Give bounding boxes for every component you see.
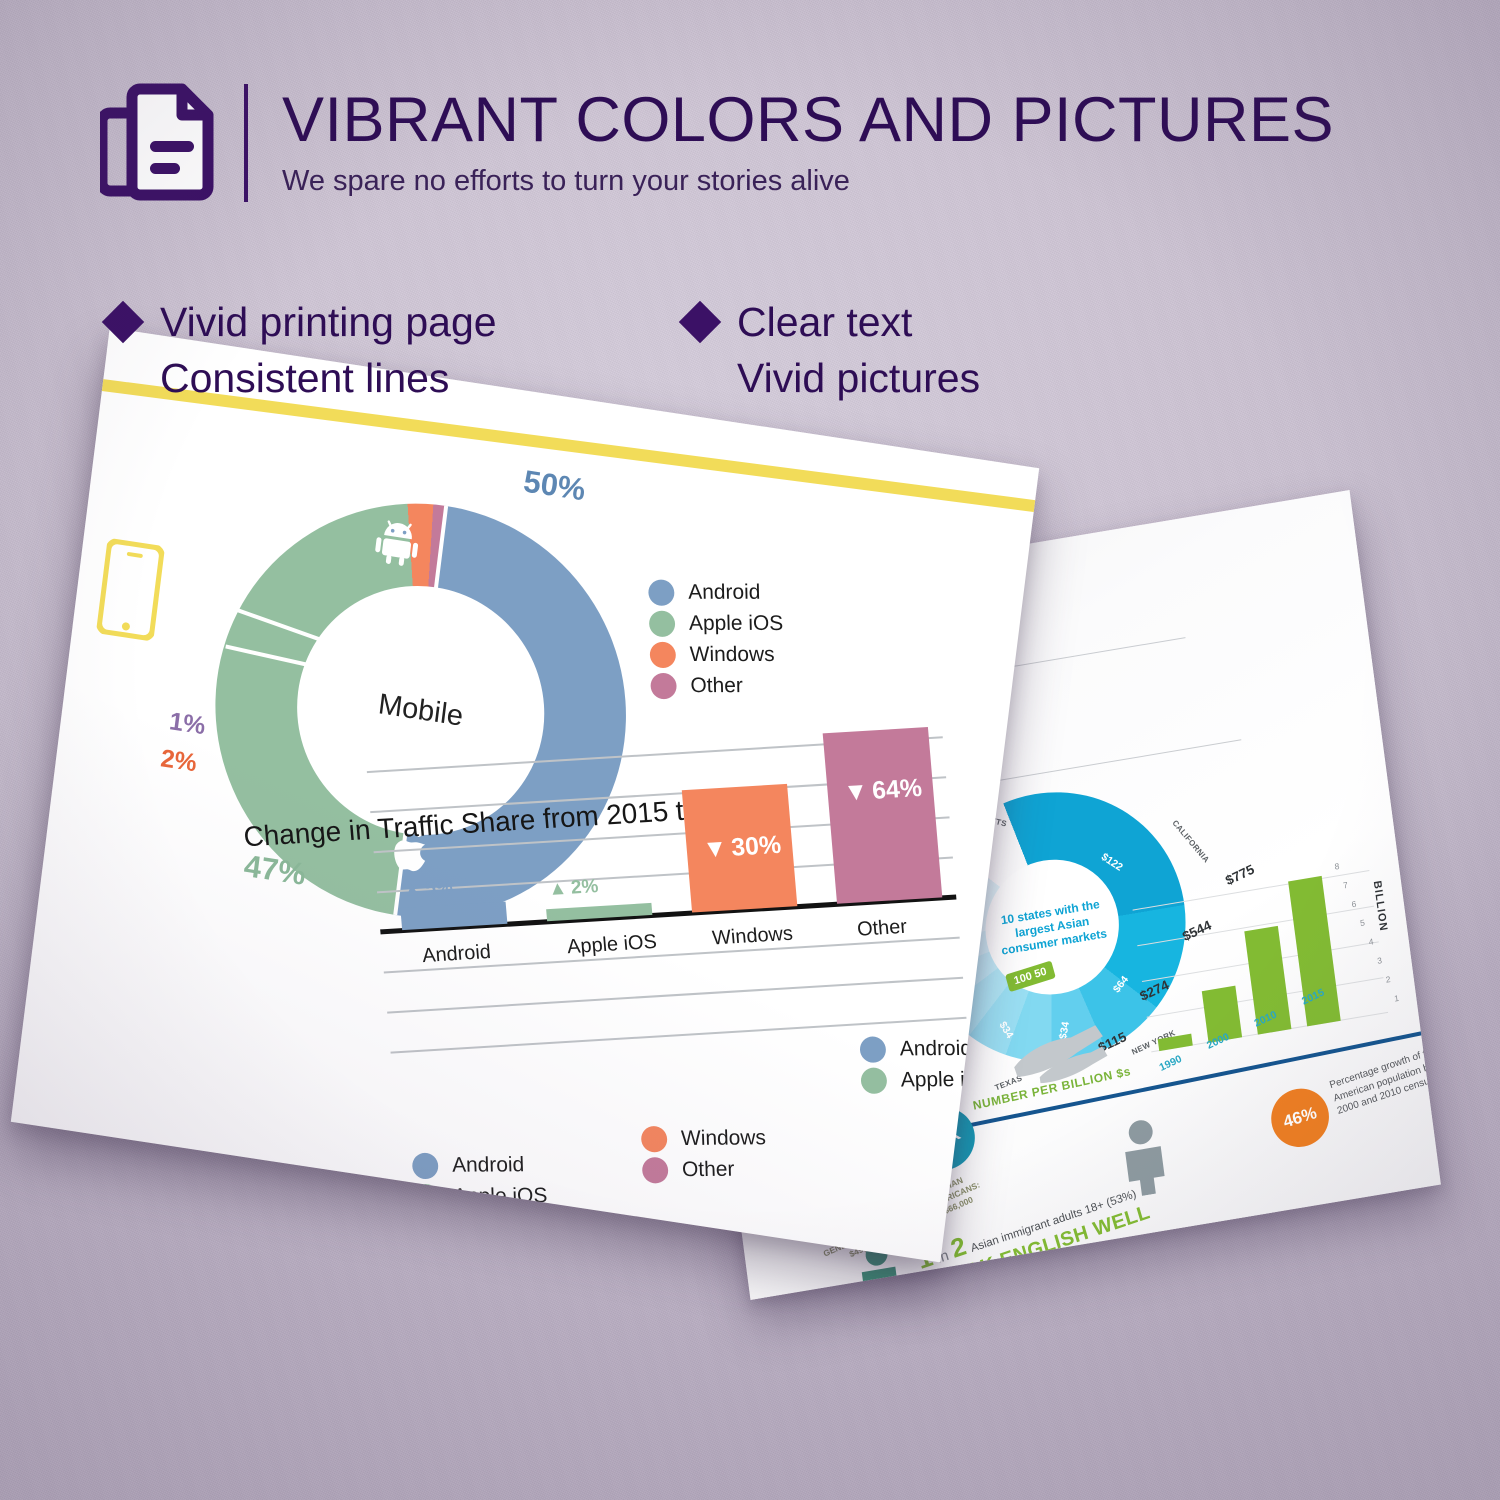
donut-pct-1: 1% — [168, 707, 207, 741]
mobile-donut-center-label: Mobile — [376, 688, 465, 734]
green-tick-1: 1 — [1394, 993, 1400, 1004]
speak-stat-two: 2 — [947, 1230, 969, 1263]
bar-category-windows: Windows — [711, 923, 794, 951]
header-divider — [244, 84, 248, 202]
legend-label-other: Other — [690, 674, 743, 698]
green-tick-8: 8 — [1334, 861, 1340, 872]
legend-item-other: Other — [650, 673, 785, 699]
legend-dot-android-d — [412, 1153, 439, 1179]
legend-item-windows-b: Windows — [641, 1125, 767, 1152]
legend-label-windows-b: Windows — [681, 1126, 767, 1151]
teal-donut-center-label: 10 states with the largest Asian consume… — [983, 894, 1121, 961]
legend-item-windows: Windows — [650, 642, 785, 668]
bar-label-other: ▼64% — [842, 774, 923, 808]
legend-label-apple-ios: Apple iOS — [689, 612, 784, 636]
legend-dot-apple-ios-c — [861, 1068, 888, 1094]
green-chart-axis-label: BILLION — [1371, 880, 1389, 933]
legend-label-android-c: Android — [899, 1037, 972, 1062]
bar-label-apple-ios: ▲2% — [548, 876, 600, 901]
legend-label-windows: Windows — [689, 643, 774, 667]
green-value-775: $775 — [1223, 862, 1256, 889]
state-label-california: CALIFORNIA — [1170, 818, 1211, 864]
page-title: VIBRANT COLORS AND PICTURES — [282, 88, 1334, 152]
green-bar-2015 — [1288, 876, 1341, 1026]
donut-pct-50: 50% — [522, 463, 588, 508]
bar-label-android-value: 5% — [425, 877, 454, 901]
legend-item-other-b: Other — [642, 1156, 768, 1183]
green-tick-6: 6 — [1351, 899, 1357, 910]
legend-dot-other-b — [642, 1157, 669, 1183]
feature-printing-line2: Consistent lines — [160, 351, 497, 407]
header-text-block: VIBRANT COLORS AND PICTURES We spare no … — [282, 88, 1334, 198]
donut-legend: Android Apple iOS Windows Other — [648, 580, 785, 705]
donut-pct-2: 2% — [159, 744, 198, 778]
bar-label-windows: ▼30% — [702, 831, 783, 865]
bar-label-other-value: 64% — [871, 774, 923, 806]
legend-dot-other — [650, 673, 677, 699]
feature-printing-line1: Vivid printing page — [160, 295, 497, 351]
bar-category-android: Android — [421, 941, 491, 968]
bar-chart: ▲5% ▲2% ▼30% ▼64% Android Apple iOS Wind… — [367, 736, 969, 1082]
legend-item-android-d: Android — [412, 1152, 547, 1179]
orange-stat-badge: 46% — [1265, 1081, 1336, 1154]
legend-dot-windows — [650, 642, 677, 668]
green-tick-3: 3 — [1377, 955, 1383, 966]
feature-text-line1: Clear text — [737, 295, 980, 351]
green-year-1990: 1990 — [1158, 1053, 1184, 1074]
diamond-bullet-icon — [679, 301, 721, 343]
document-copy-icon — [100, 79, 218, 207]
diamond-bullet-icon — [102, 301, 144, 343]
legend-label-android-d: Android — [452, 1153, 525, 1178]
orange-stat-value: 46% — [1281, 1103, 1319, 1132]
legend-dot-windows-b — [641, 1126, 668, 1152]
feature-item-text: Clear text Vivid pictures — [685, 295, 980, 407]
bar-label-android: ▲5% — [402, 877, 454, 902]
header: VIBRANT COLORS AND PICTURES We spare no … — [100, 68, 1480, 218]
money-hand-icon — [1000, 990, 1114, 1092]
feature-item-printing: Vivid printing page Consistent lines — [108, 295, 497, 407]
feature-text-line2: Vivid pictures — [737, 351, 980, 407]
legend-item-apple-ios: Apple iOS — [649, 611, 784, 637]
green-bar-1990 — [1158, 1034, 1193, 1052]
front-printed-page: Mobile 50% 47% 2% 1% Android — [11, 328, 1039, 1263]
green-tick-4: 4 — [1368, 936, 1374, 947]
bar-other — [823, 727, 943, 904]
legend-dot-android-c — [860, 1036, 887, 1062]
legend-label-other-b: Other — [682, 1158, 735, 1182]
bar-label-apple-ios-value: 2% — [570, 876, 599, 900]
bar-label-windows-value: 30% — [730, 831, 782, 863]
green-tick-5: 5 — [1359, 917, 1365, 928]
green-tick-7: 7 — [1342, 880, 1348, 891]
legend-dot-android — [648, 580, 675, 606]
page-subtitle: We spare no efforts to turn your stories… — [282, 166, 1334, 198]
legend-dot-apple-ios — [649, 611, 676, 637]
green-tick-2: 2 — [1385, 974, 1391, 985]
legend-label-android: Android — [688, 581, 761, 605]
bar-category-other: Other — [856, 916, 908, 942]
android-robot-icon — [373, 516, 422, 568]
legend-item-android: Android — [648, 580, 783, 606]
bar-legend-a: Windows Other — [641, 1125, 768, 1188]
feature-printing-text: Vivid printing page Consistent lines — [160, 295, 497, 407]
green-value-544: $544 — [1180, 917, 1213, 944]
bar-chart-gridline — [387, 977, 963, 1013]
smartphone-icon — [96, 538, 165, 642]
feature-text-text: Clear text Vivid pictures — [737, 295, 980, 407]
